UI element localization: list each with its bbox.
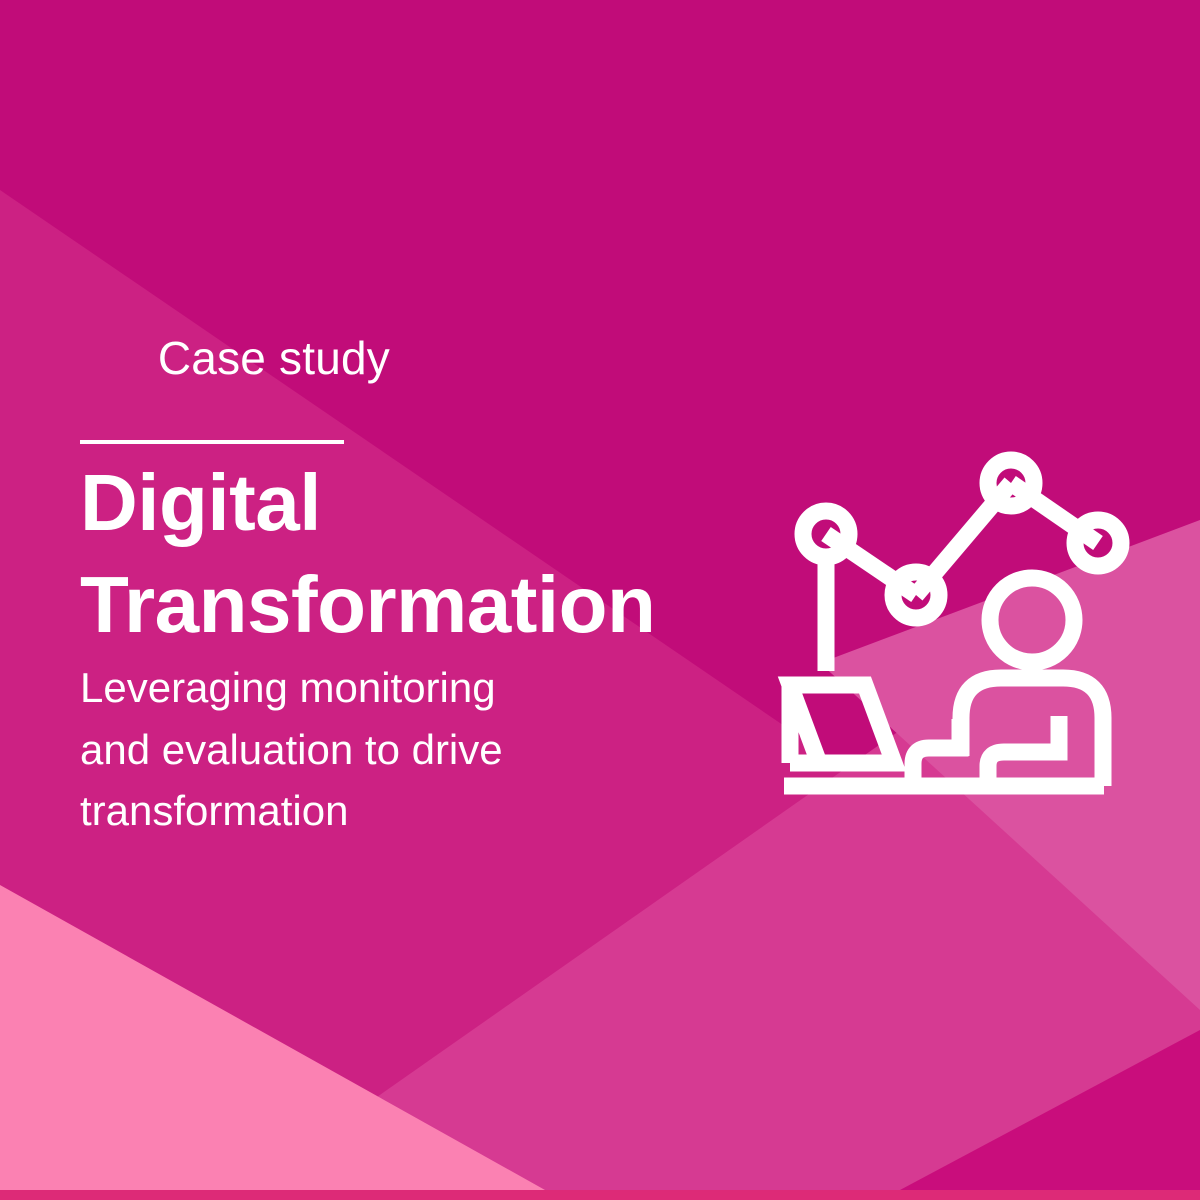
page-title: Digital Transformation — [80, 452, 720, 657]
page-subtitle-line-1: Leveraging monitoring — [80, 657, 600, 719]
eyebrow-label: Case study — [158, 332, 390, 384]
analytics-person-laptop-icon — [776, 438, 1146, 808]
analytics-person-laptop-glyph — [776, 438, 1146, 808]
page-subtitle: Leveraging monitoring and evaluation to … — [80, 657, 600, 842]
page-subtitle-line-3: transformation — [80, 780, 600, 842]
eyebrow-underline — [80, 440, 344, 444]
page-title-line-1: Digital — [80, 458, 321, 547]
page-title-line-2: Transformation — [80, 554, 720, 656]
person-forearm-icon — [988, 716, 1059, 786]
person-head-icon — [990, 578, 1074, 662]
person-arm-icon — [913, 719, 960, 786]
case-study-card: Case study Digital Transformation Levera… — [0, 0, 1200, 1200]
laptop-screen-icon — [790, 685, 894, 763]
page-subtitle-line-2: and evaluation to drive — [80, 719, 600, 781]
